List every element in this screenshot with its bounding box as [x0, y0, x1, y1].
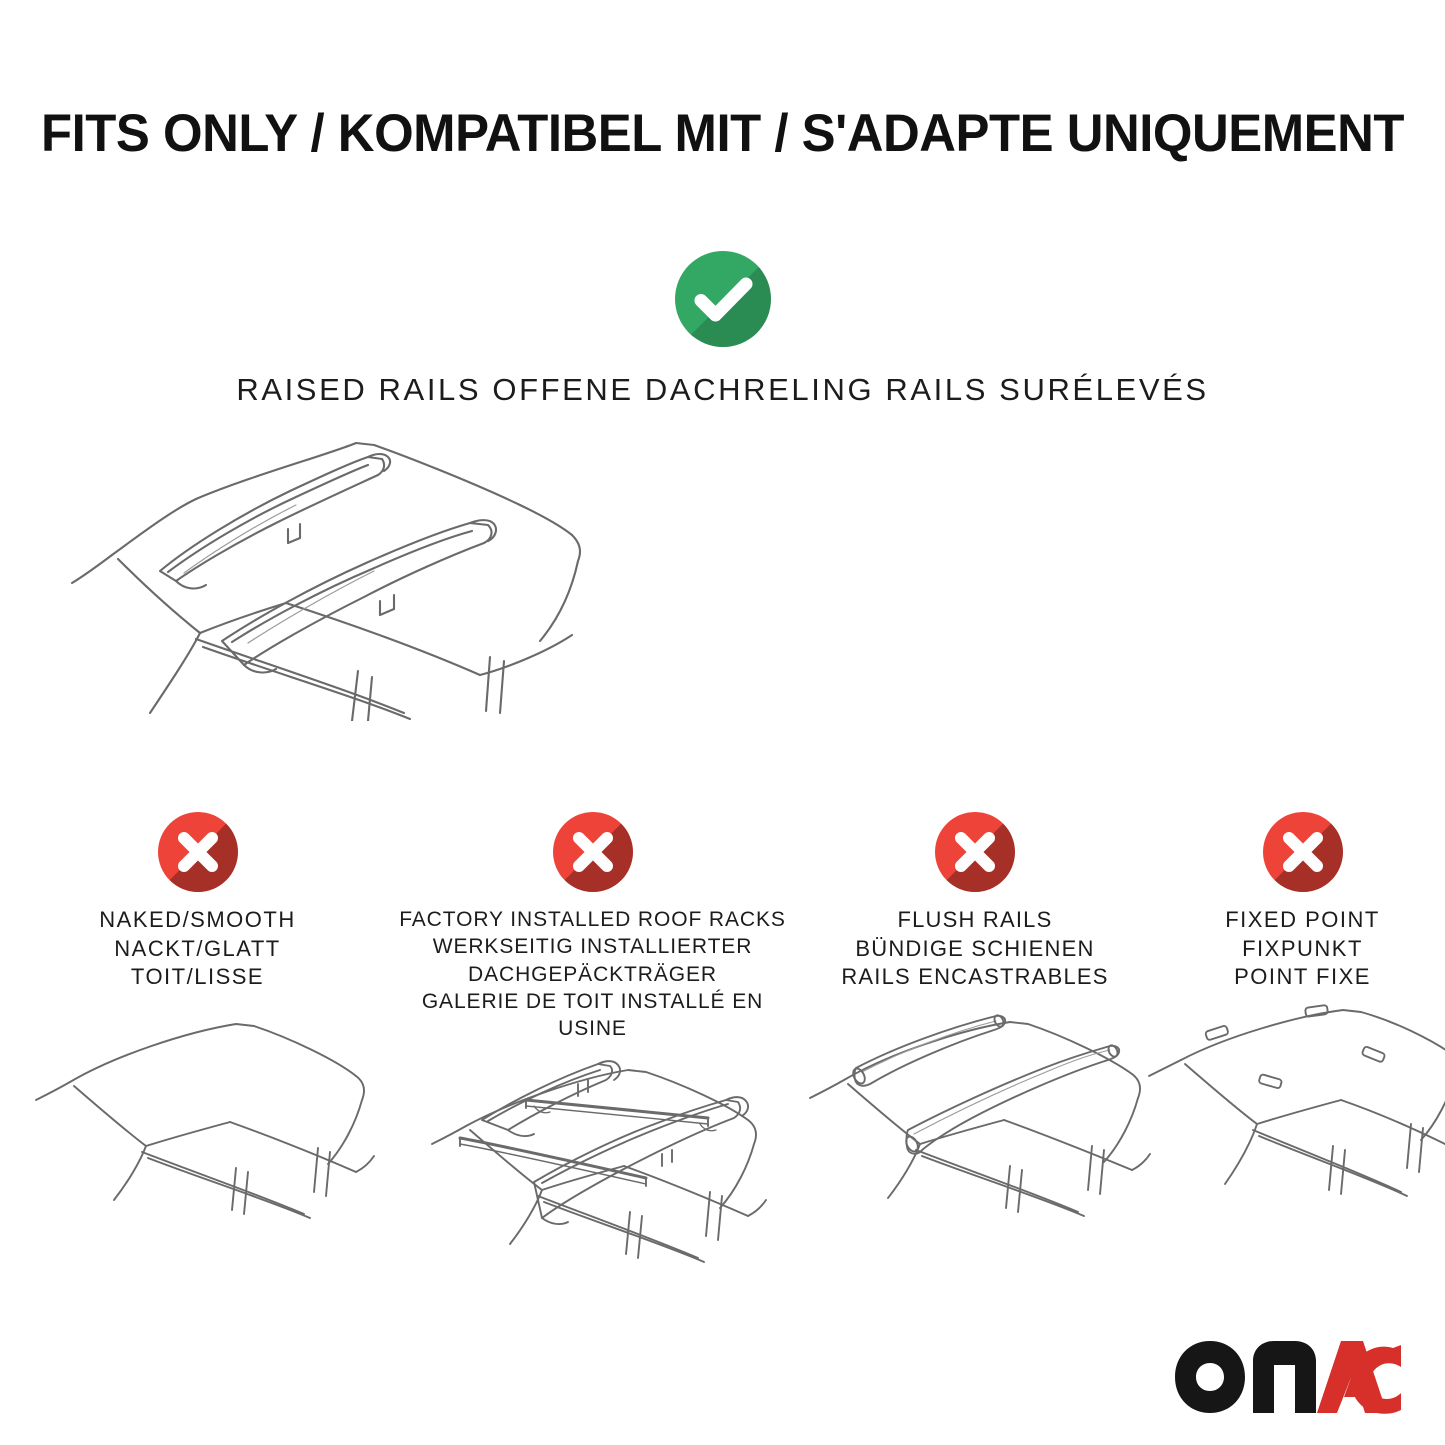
car-roof-factory-racks-illustration — [408, 1054, 778, 1279]
car-roof-naked-smooth-illustration — [18, 1004, 378, 1229]
incompatible-section: NAKED/SMOOTH NACKT/GLATT TOIT/LISSE — [0, 812, 1445, 1279]
incompatible-item-naked-smooth: NAKED/SMOOTH NACKT/GLATT TOIT/LISSE — [0, 812, 395, 1229]
omac-logo — [1173, 1339, 1403, 1417]
car-roof-flush-rails-illustration — [790, 1004, 1160, 1229]
incompatible-item-factory-racks: FACTORY INSTALLED ROOF RACKS WERKSEITIG … — [395, 812, 790, 1279]
incompatible-item-fixed-point: FIXED POINT FIXPUNKT POINT FIXE — [1160, 812, 1445, 1229]
car-roof-fixed-point-illustration — [1143, 1004, 1445, 1229]
incompatible-label: FACTORY INSTALLED ROOF RACKS WERKSEITIG … — [395, 906, 790, 1042]
x-circle-icon — [935, 812, 1015, 892]
page-title: FITS ONLY / KOMPATIBEL MIT / S'ADAPTE UN… — [29, 103, 1416, 164]
compatible-section: RAISED RAILS OFFENE DACHRELING RAILS SUR… — [0, 251, 1445, 721]
logo-letter-o — [1175, 1341, 1245, 1413]
incompatible-item-flush-rails: FLUSH RAILS BÜNDIGE SCHIENEN RAILS ENCAS… — [790, 812, 1160, 1229]
car-roof-raised-rails-illustration — [0, 421, 1445, 721]
compatible-label: RAISED RAILS OFFENE DACHRELING RAILS SUR… — [0, 370, 1445, 411]
x-circle-icon — [1263, 812, 1343, 892]
logo-letter-m — [1253, 1341, 1316, 1413]
check-circle-icon — [675, 251, 771, 347]
x-circle-icon — [158, 812, 238, 892]
x-circle-icon — [553, 812, 633, 892]
incompatible-label: FIXED POINT FIXPUNKT POINT FIXE — [1225, 906, 1380, 992]
incompatible-label: NAKED/SMOOTH NACKT/GLATT TOIT/LISSE — [99, 906, 295, 992]
incompatible-label: FLUSH RAILS BÜNDIGE SCHIENEN RAILS ENCAS… — [841, 906, 1108, 992]
header: FITS ONLY / KOMPATIBEL MIT / S'ADAPTE UN… — [0, 103, 1445, 164]
